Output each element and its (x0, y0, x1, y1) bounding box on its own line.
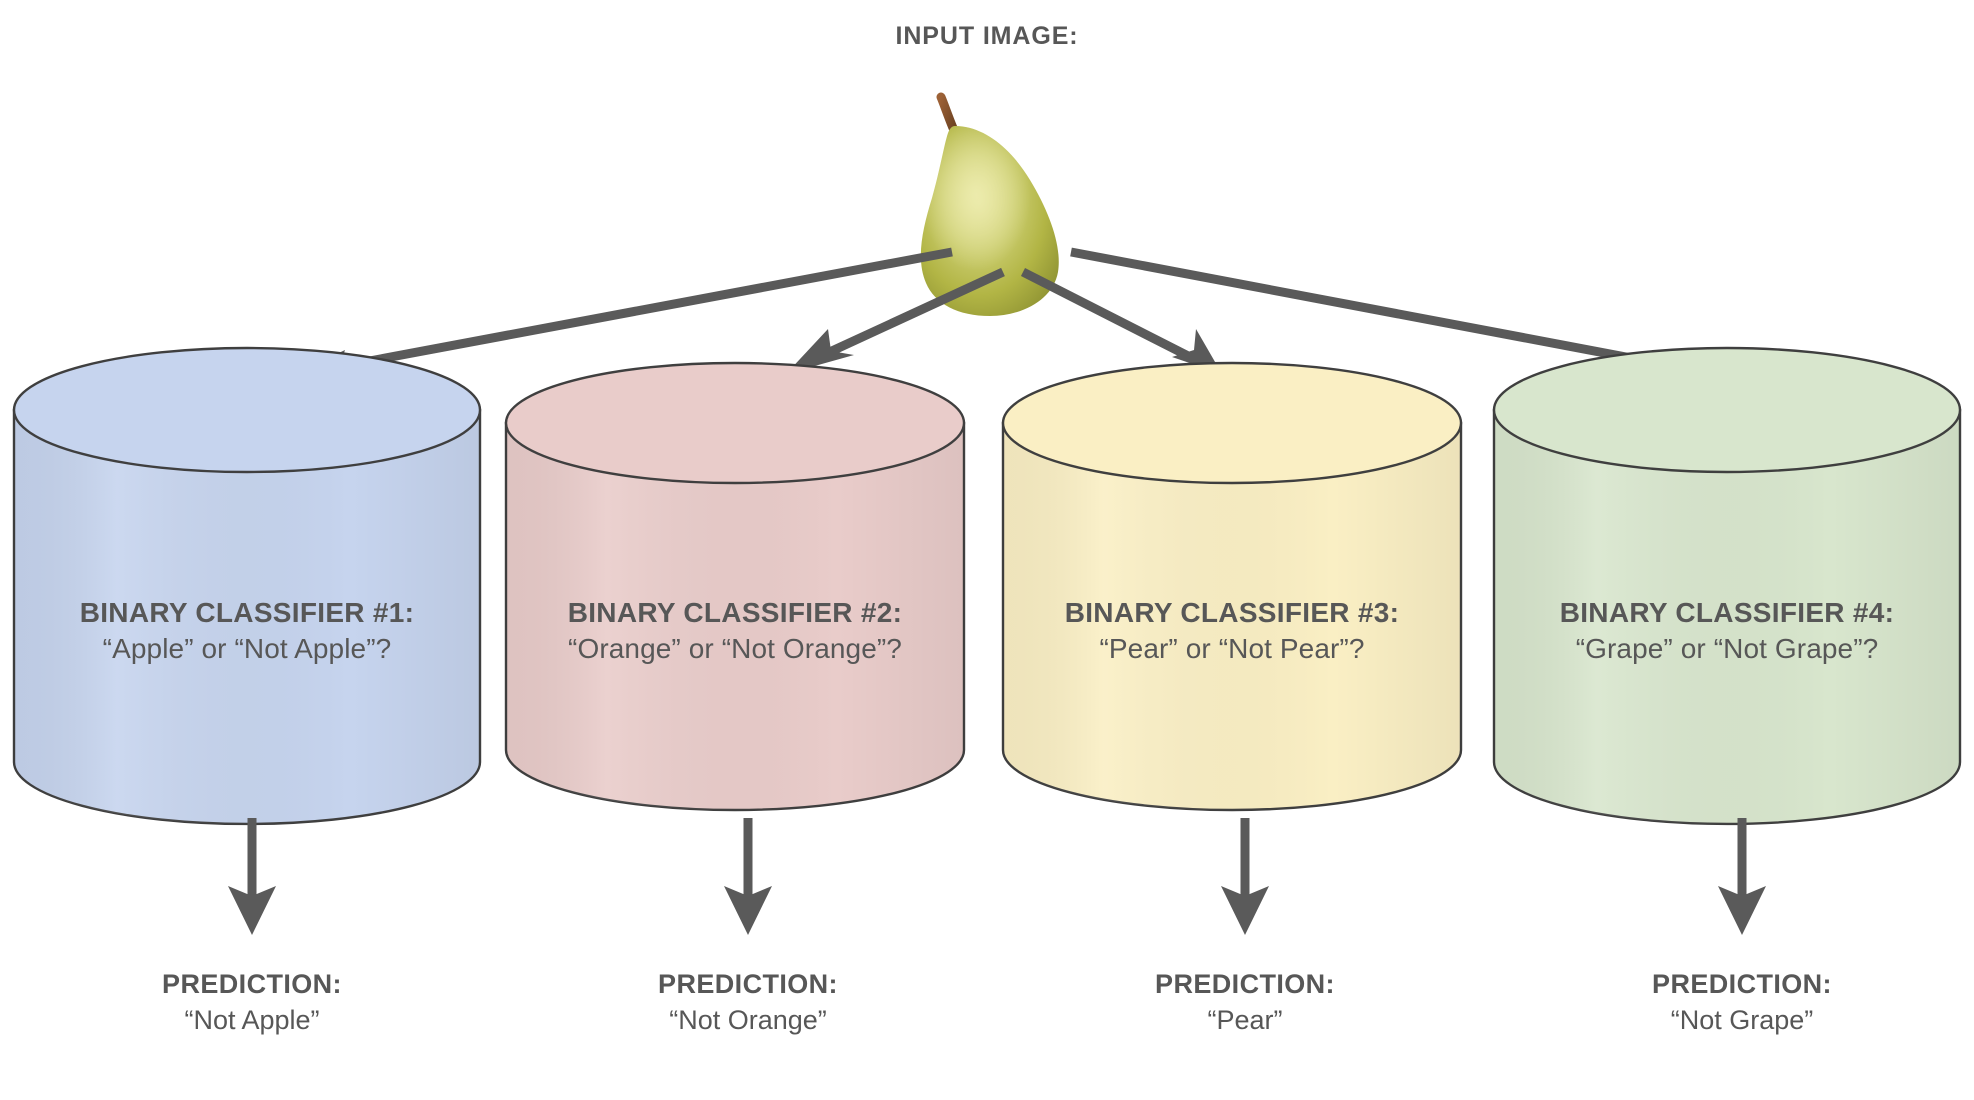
pear-highlight-icon (921, 126, 1059, 316)
prediction-3-label: PREDICTION: (1045, 966, 1445, 1002)
prediction-2-label: PREDICTION: (548, 966, 948, 1002)
page-title: INPUT IMAGE: (0, 22, 1974, 51)
diagram-vector-layer (0, 0, 1974, 1100)
arrow-classifier-3-to-prediction-3 (1221, 818, 1269, 935)
classifier-3-cylinder[interactable] (1003, 363, 1461, 810)
prediction-4: PREDICTION: “Not Grape” (1542, 966, 1942, 1038)
arrow-input-to-classifier-2 (786, 272, 1003, 374)
arrow-classifier-4-to-prediction-4 (1718, 818, 1766, 935)
classifier-2-cylinder[interactable] (506, 363, 964, 810)
prediction-2-value: “Not Orange” (548, 1002, 948, 1038)
prediction-1-label: PREDICTION: (52, 966, 452, 1002)
classifier-4-cylinder[interactable] (1494, 348, 1960, 824)
prediction-2: PREDICTION: “Not Orange” (548, 966, 948, 1038)
prediction-arrow-group (228, 818, 1766, 935)
prediction-3: PREDICTION: “Pear” (1045, 966, 1445, 1038)
prediction-1-value: “Not Apple” (52, 1002, 452, 1038)
arrow-classifier-1-to-prediction-1 (228, 818, 276, 935)
prediction-3-value: “Pear” (1045, 1002, 1445, 1038)
arrow-classifier-2-to-prediction-2 (724, 818, 772, 935)
prediction-1: PREDICTION: “Not Apple” (52, 966, 452, 1038)
prediction-4-value: “Not Grape” (1542, 1002, 1942, 1038)
arrow-input-to-classifier-3 (1023, 272, 1222, 374)
pear-stem-icon (941, 97, 953, 128)
diagram-canvas: INPUT IMAGE: BINARY CLASSIFIER #1: “Appl… (0, 0, 1974, 1100)
prediction-4-label: PREDICTION: (1542, 966, 1942, 1002)
classifier-1-cylinder[interactable] (14, 348, 480, 824)
